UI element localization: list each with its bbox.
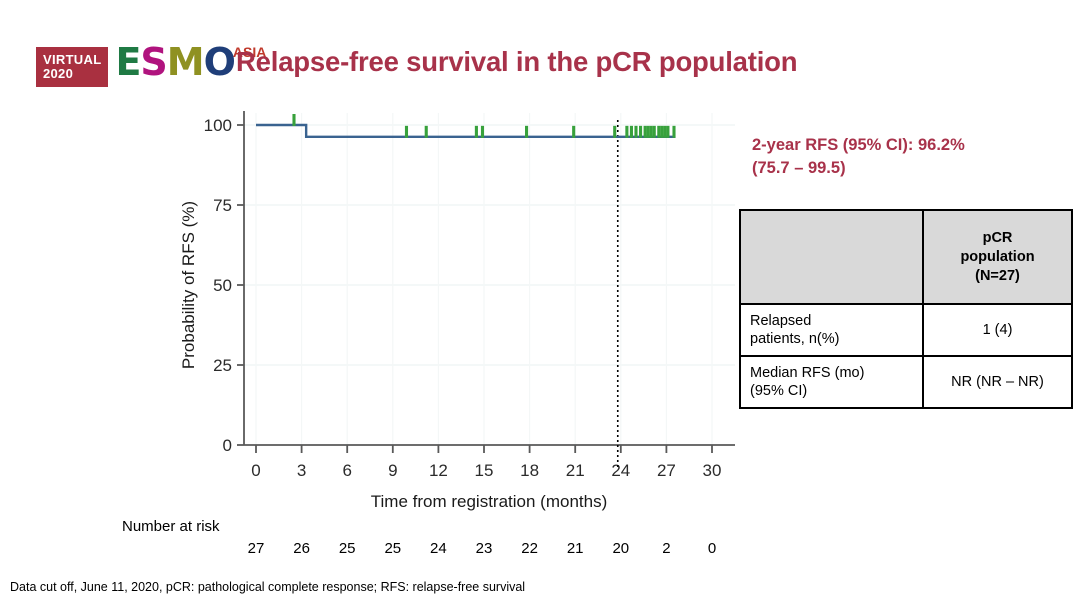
x-tick-label: 15 (475, 461, 494, 480)
km-plot-svg: 0255075100036912151821242730Time from re… (0, 95, 740, 515)
number-at-risk-value: 0 (708, 540, 716, 557)
footnote: Data cut off, June 11, 2020, pCR: pathol… (10, 580, 525, 594)
x-tick-label: 27 (657, 461, 676, 480)
y-tick-label: 75 (213, 196, 232, 215)
number-at-risk-value: 21 (567, 540, 584, 557)
number-at-risk-value: 20 (612, 540, 629, 557)
row-label-line1: Median RFS (mo) (750, 364, 913, 382)
table-row: Relapsed patients, n(%) 1 (4) (740, 304, 1072, 356)
x-axis-title: Time from registration (months) (371, 492, 607, 511)
number-at-risk-value: 27 (248, 540, 265, 557)
table-header-line2: population (933, 248, 1062, 267)
y-tick-label: 100 (204, 116, 232, 135)
table-header-row: pCR population (N=27) (740, 210, 1072, 304)
y-tick-label: 25 (213, 356, 232, 375)
x-tick-label: 12 (429, 461, 448, 480)
x-tick-label: 6 (342, 461, 351, 480)
rfs-annotation-line2: (75.7 – 99.5) (752, 157, 1042, 180)
km-survival-chart: 0255075100036912151821242730Time from re… (0, 95, 740, 515)
logo-virtual-line1: VIRTUAL (43, 53, 101, 67)
y-axis-title: Probability of RFS (%) (179, 201, 198, 369)
logo-letter-o: O (204, 43, 235, 81)
x-tick-label: 30 (703, 461, 722, 480)
logo-letter-m: M (167, 43, 204, 81)
logo-letter-e: E (115, 43, 140, 81)
y-tick-label: 0 (223, 436, 232, 455)
row-value-relapsed-patients: 1 (4) (923, 304, 1072, 356)
x-tick-label: 21 (566, 461, 585, 480)
number-at-risk-value: 22 (521, 540, 538, 557)
table-header-line3: (N=27) (933, 267, 1062, 286)
number-at-risk-row: 27262525242322212020 (0, 540, 740, 560)
number-at-risk-label: Number at risk (122, 518, 220, 535)
table-header-blank-cell (740, 210, 923, 304)
x-tick-label: 18 (520, 461, 539, 480)
number-at-risk-value: 26 (293, 540, 310, 557)
row-label-line2: patients, n(%) (750, 330, 913, 348)
summary-stats-table: pCR population (N=27) Relapsed patients,… (739, 209, 1073, 409)
x-tick-label: 0 (251, 461, 260, 480)
x-tick-label: 24 (611, 461, 630, 480)
x-tick-label: 3 (297, 461, 306, 480)
slide-title: Relapse-free survival in the pCR populat… (236, 46, 797, 78)
row-label-relapsed-patients: Relapsed patients, n(%) (740, 304, 923, 356)
table-row: Median RFS (mo) (95% CI) NR (NR – NR) (740, 356, 1072, 408)
logo-virtual-badge: VIRTUAL 2020 (36, 47, 108, 87)
table-header-line1: pCR (933, 229, 1062, 248)
number-at-risk-value: 25 (339, 540, 356, 557)
x-tick-label: 9 (388, 461, 397, 480)
row-label-line1: Relapsed (750, 312, 913, 330)
row-value-median-rfs: NR (NR – NR) (923, 356, 1072, 408)
rfs-annotation-line1: 2-year RFS (95% CI): 96.2% (752, 134, 1042, 157)
esmo-asia-logo: VIRTUAL 2020 E S M O ASIA (36, 39, 266, 83)
number-at-risk-value: 23 (476, 540, 493, 557)
two-year-rfs-annotation: 2-year RFS (95% CI): 96.2% (75.7 – 99.5) (752, 134, 1042, 180)
number-at-risk-value: 24 (430, 540, 447, 557)
row-label-median-rfs: Median RFS (mo) (95% CI) (740, 356, 923, 408)
y-tick-label: 50 (213, 276, 232, 295)
logo-virtual-line2: 2020 (43, 67, 101, 81)
logo-letter-s: S (140, 43, 166, 81)
table-header-pcr-population: pCR population (N=27) (923, 210, 1072, 304)
number-at-risk-value: 2 (662, 540, 670, 557)
row-label-line2: (95% CI) (750, 382, 913, 400)
number-at-risk-value: 25 (384, 540, 401, 557)
km-step-curve (256, 125, 676, 137)
